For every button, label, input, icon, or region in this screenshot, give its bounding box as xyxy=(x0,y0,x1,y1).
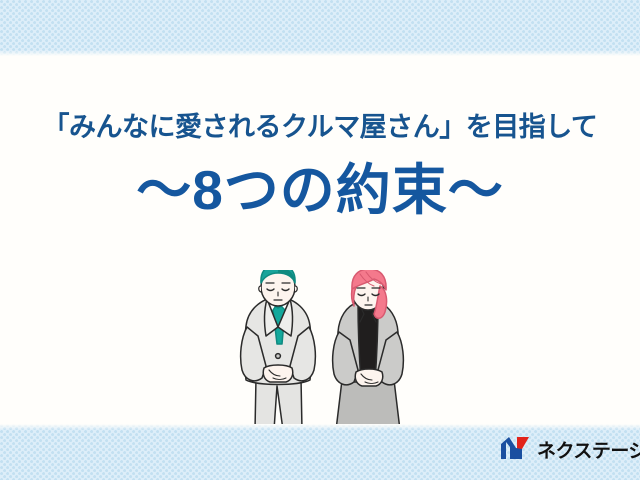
nextage-logo: ネクステージ xyxy=(500,437,640,465)
nextage-n-mark-icon xyxy=(500,437,530,465)
top-dotted-band xyxy=(0,0,640,56)
female-staff-figure xyxy=(333,270,404,430)
nextage-logo-text: ネクステージ xyxy=(537,442,640,461)
headline-block: 「みんなに愛されるクルマ屋さん」を目指して 〜8つの約束〜 xyxy=(0,112,640,220)
headline-line-1: 「みんなに愛されるクルマ屋さん」を目指して xyxy=(0,112,640,144)
two-bowing-staff-illustration xyxy=(236,270,416,432)
headline-line-2: 〜8つの約束〜 xyxy=(0,160,640,221)
male-staff-figure xyxy=(241,270,316,430)
slide-canvas: 「みんなに愛されるクルマ屋さん」を目指して 〜8つの約束〜 xyxy=(0,0,640,480)
